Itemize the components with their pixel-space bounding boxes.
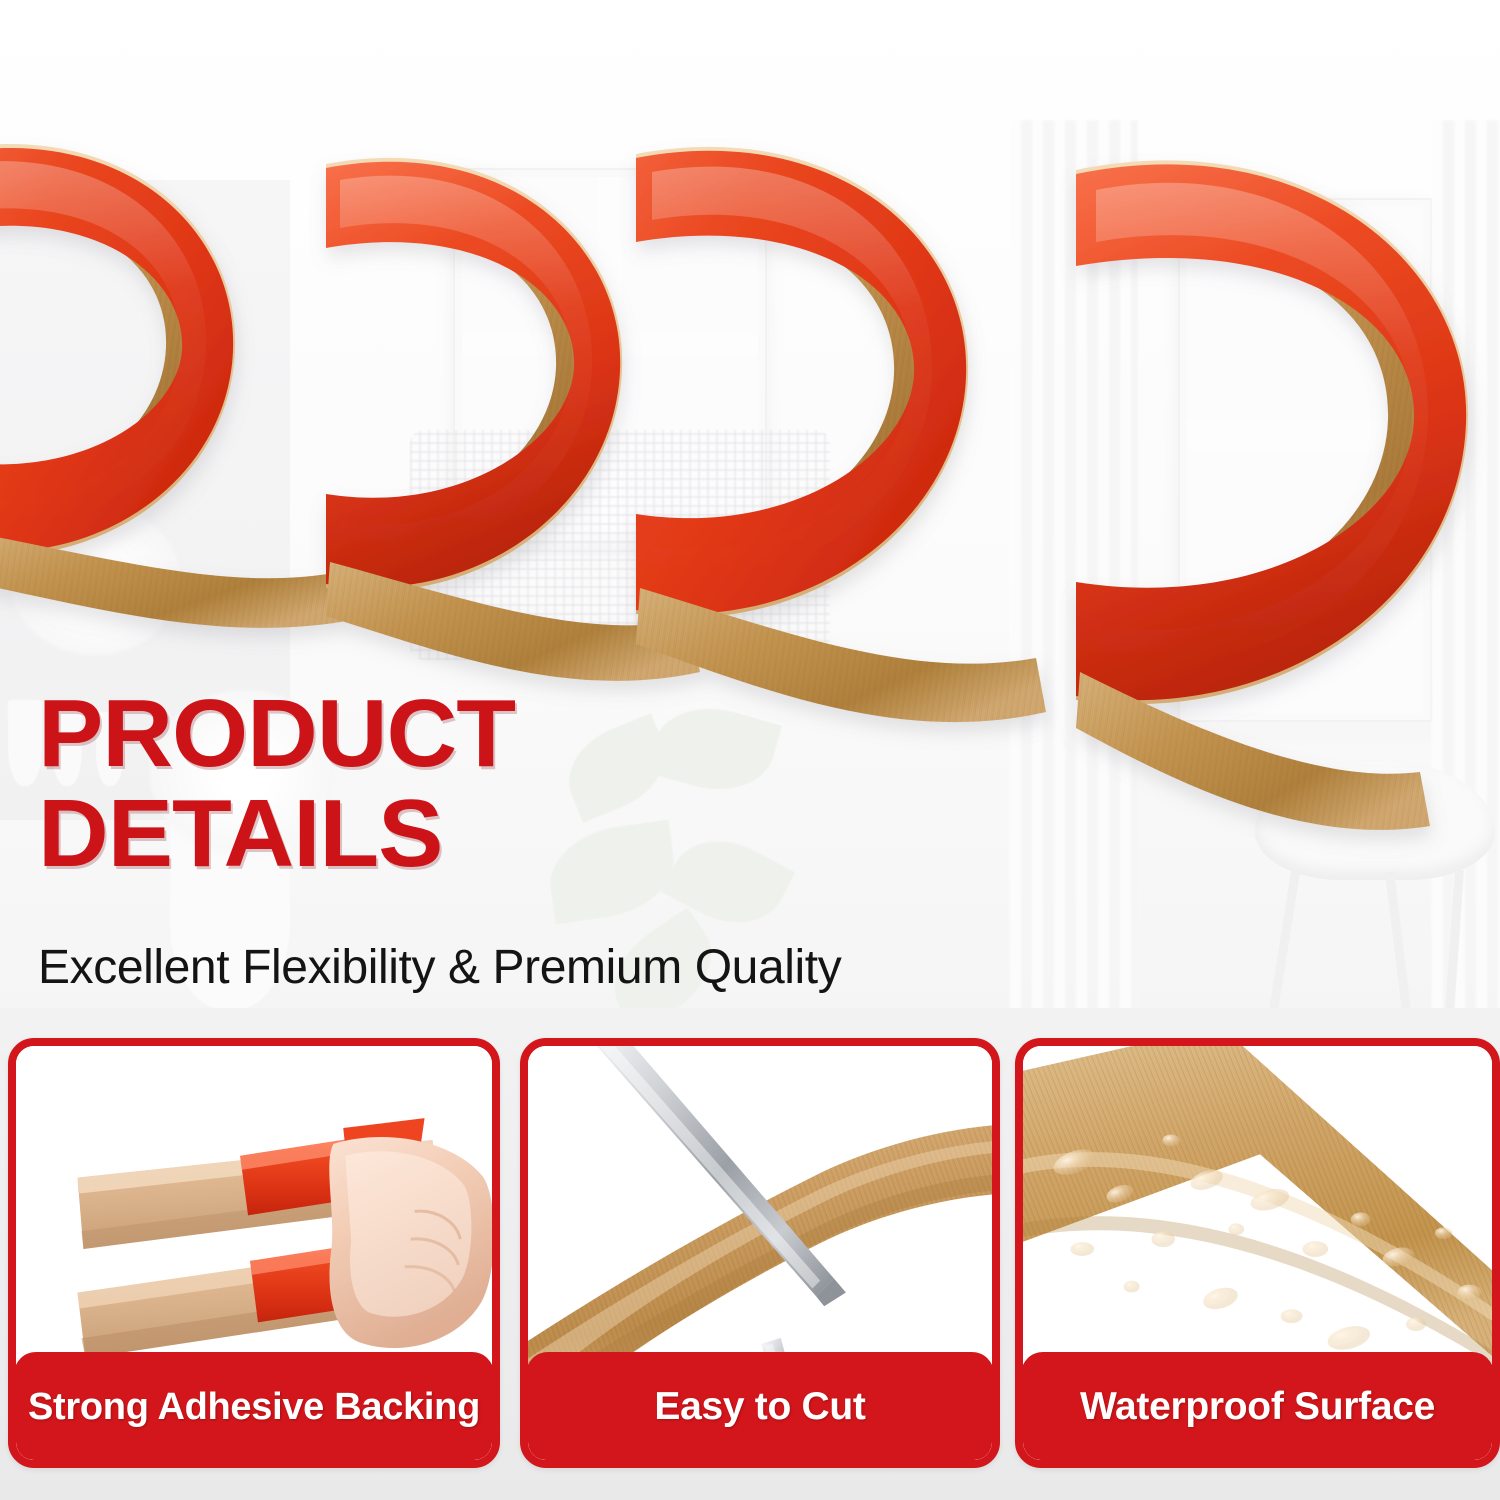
page-title: PRODUCT DETAILS xyxy=(38,688,938,880)
feature-caption-adhesive: Strong Adhesive Backing xyxy=(14,1352,494,1462)
feature-caption-text: Easy to Cut xyxy=(654,1385,865,1429)
headline-line-2: DETAILS xyxy=(38,788,956,880)
tape-coil-4 xyxy=(1076,160,1468,830)
feature-panel-row: Strong Adhesive Backing xyxy=(0,1038,1500,1470)
feature-caption-text: Strong Adhesive Backing xyxy=(28,1386,480,1429)
tape-coil-3 xyxy=(636,147,1046,722)
headline-line-1: PRODUCT xyxy=(38,688,956,780)
feature-caption-cut: Easy to Cut xyxy=(526,1352,994,1462)
feature-card-cut[interactable]: Easy to Cut xyxy=(520,1038,1000,1468)
feature-card-adhesive[interactable]: Strong Adhesive Backing xyxy=(8,1038,500,1468)
feature-caption-text: Waterproof Surface xyxy=(1080,1385,1435,1429)
feature-card-waterproof[interactable]: Waterproof Surface xyxy=(1015,1038,1500,1468)
tape-coil-1 xyxy=(0,144,352,628)
subtitle: Excellent Flexibility & Premium Quality xyxy=(38,940,841,995)
feature-caption-waterproof: Waterproof Surface xyxy=(1021,1352,1494,1462)
